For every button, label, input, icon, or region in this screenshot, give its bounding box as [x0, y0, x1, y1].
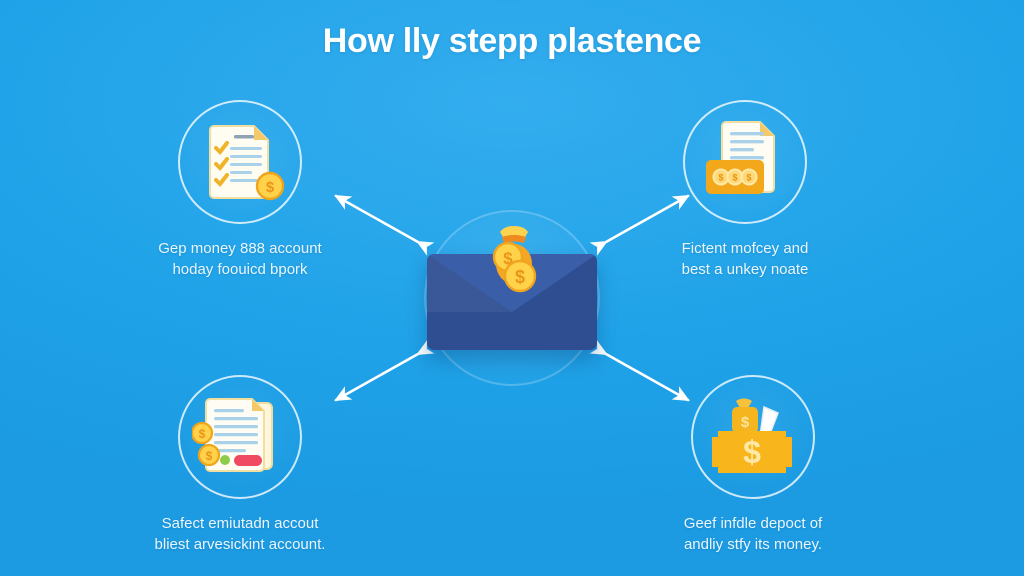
node-bottom-right-circle: $ $	[691, 375, 815, 499]
center-node: $ $	[424, 210, 600, 386]
document-with-coin-card-icon: $ $ $	[698, 116, 792, 208]
node-top-right: $ $ $ Fictent mofcey and best a unkey no…	[620, 100, 870, 280]
node-bottom-left: $ $ Safect emiutadn accout bliest arvesi…	[115, 375, 365, 555]
node-bottom-right-label-line2: andliy stfy its money.	[628, 534, 878, 555]
node-top-right-circle: $ $ $	[683, 100, 807, 224]
page-title: How lly stepp plastence	[0, 22, 1024, 61]
node-bottom-left-label-line1: Safect emiutadn accout	[115, 513, 365, 534]
node-bottom-left-label-line2: bliest arvesickint account.	[115, 534, 365, 555]
money-box-with-dollar-sign-icon: $ $	[706, 393, 800, 481]
node-top-right-label: Fictent mofcey and best a unkey noate	[620, 238, 870, 280]
node-top-left-circle: $	[178, 100, 302, 224]
node-top-right-label-line1: Fictent mofcey and	[620, 238, 870, 259]
node-bottom-right-label-line1: Geef infdle depoct of	[628, 513, 878, 534]
node-top-left-label-line1: Gep money 888 account	[115, 238, 365, 259]
svg-text:$: $	[266, 179, 275, 196]
svg-text:$: $	[718, 173, 723, 183]
svg-text:$: $	[741, 414, 750, 431]
node-top-left-label-line2: hoday foouicd bpork	[115, 259, 365, 280]
infographic-canvas: How lly stepp plastence $ $	[0, 0, 1024, 576]
svg-text:$: $	[515, 267, 525, 287]
svg-text:$: $	[206, 449, 213, 463]
node-bottom-left-label: Safect emiutadn accout bliest arvesickin…	[115, 513, 365, 555]
node-bottom-right: $ $ Geef infdle depoct of andliy stfy it…	[628, 375, 878, 555]
node-top-left-label: Gep money 888 account hoday foouicd bpor…	[115, 238, 365, 280]
svg-text:$: $	[199, 427, 206, 441]
node-top-left: $ Gep money 888 account hoday foouicd bp…	[115, 100, 365, 280]
node-bottom-left-circle: $ $	[178, 375, 302, 499]
money-bag-coins-icon: $ $	[486, 224, 542, 298]
node-bottom-right-label: Geef infdle depoct of andliy stfy its mo…	[628, 513, 878, 555]
node-top-right-label-line2: best a unkey noate	[620, 259, 870, 280]
svg-text:$: $	[746, 173, 751, 183]
svg-text:$: $	[732, 173, 737, 183]
checklist-document-with-coin-icon: $	[194, 116, 286, 208]
stacked-documents-with-coins-icon: $ $	[192, 391, 288, 483]
svg-text:$: $	[743, 434, 761, 470]
